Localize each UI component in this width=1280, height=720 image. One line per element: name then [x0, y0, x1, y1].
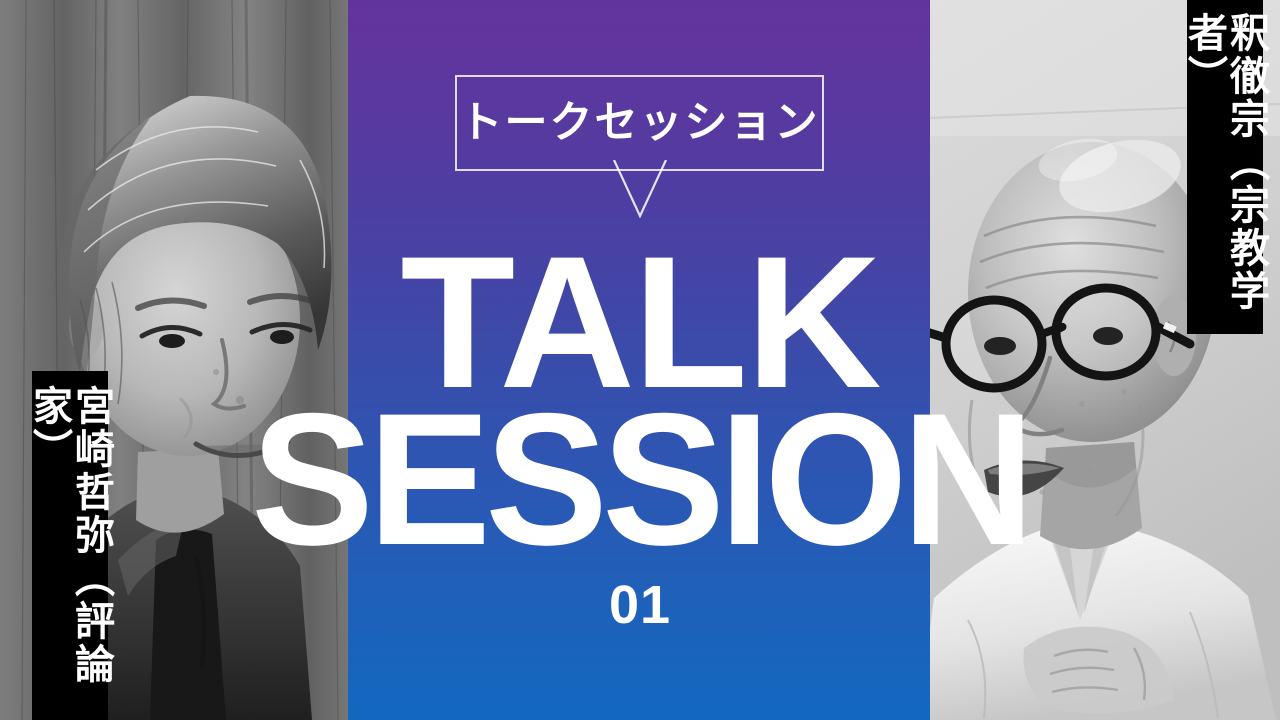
talk-session-tag-label: トークセッション [460, 102, 820, 145]
nameplate-left-text: 宮崎哲弥（評論家） [28, 385, 112, 720]
nameplate-speaker-right: 釈徹宗（宗教学者） [1187, 0, 1263, 334]
title-line-session: SESSION [13, 385, 1267, 573]
talk-session-title-card: トークセッション TALK SESSION 01 宮崎哲弥（評論家） 釈徹宗（宗… [0, 0, 1280, 720]
talk-session-tag-box: トークセッション [455, 75, 824, 171]
nameplate-speaker-left: 宮崎哲弥（評論家） [32, 371, 108, 720]
nameplate-right-text: 釈徹宗（宗教学者） [1183, 12, 1267, 334]
episode-number: 01 [0, 578, 1280, 632]
